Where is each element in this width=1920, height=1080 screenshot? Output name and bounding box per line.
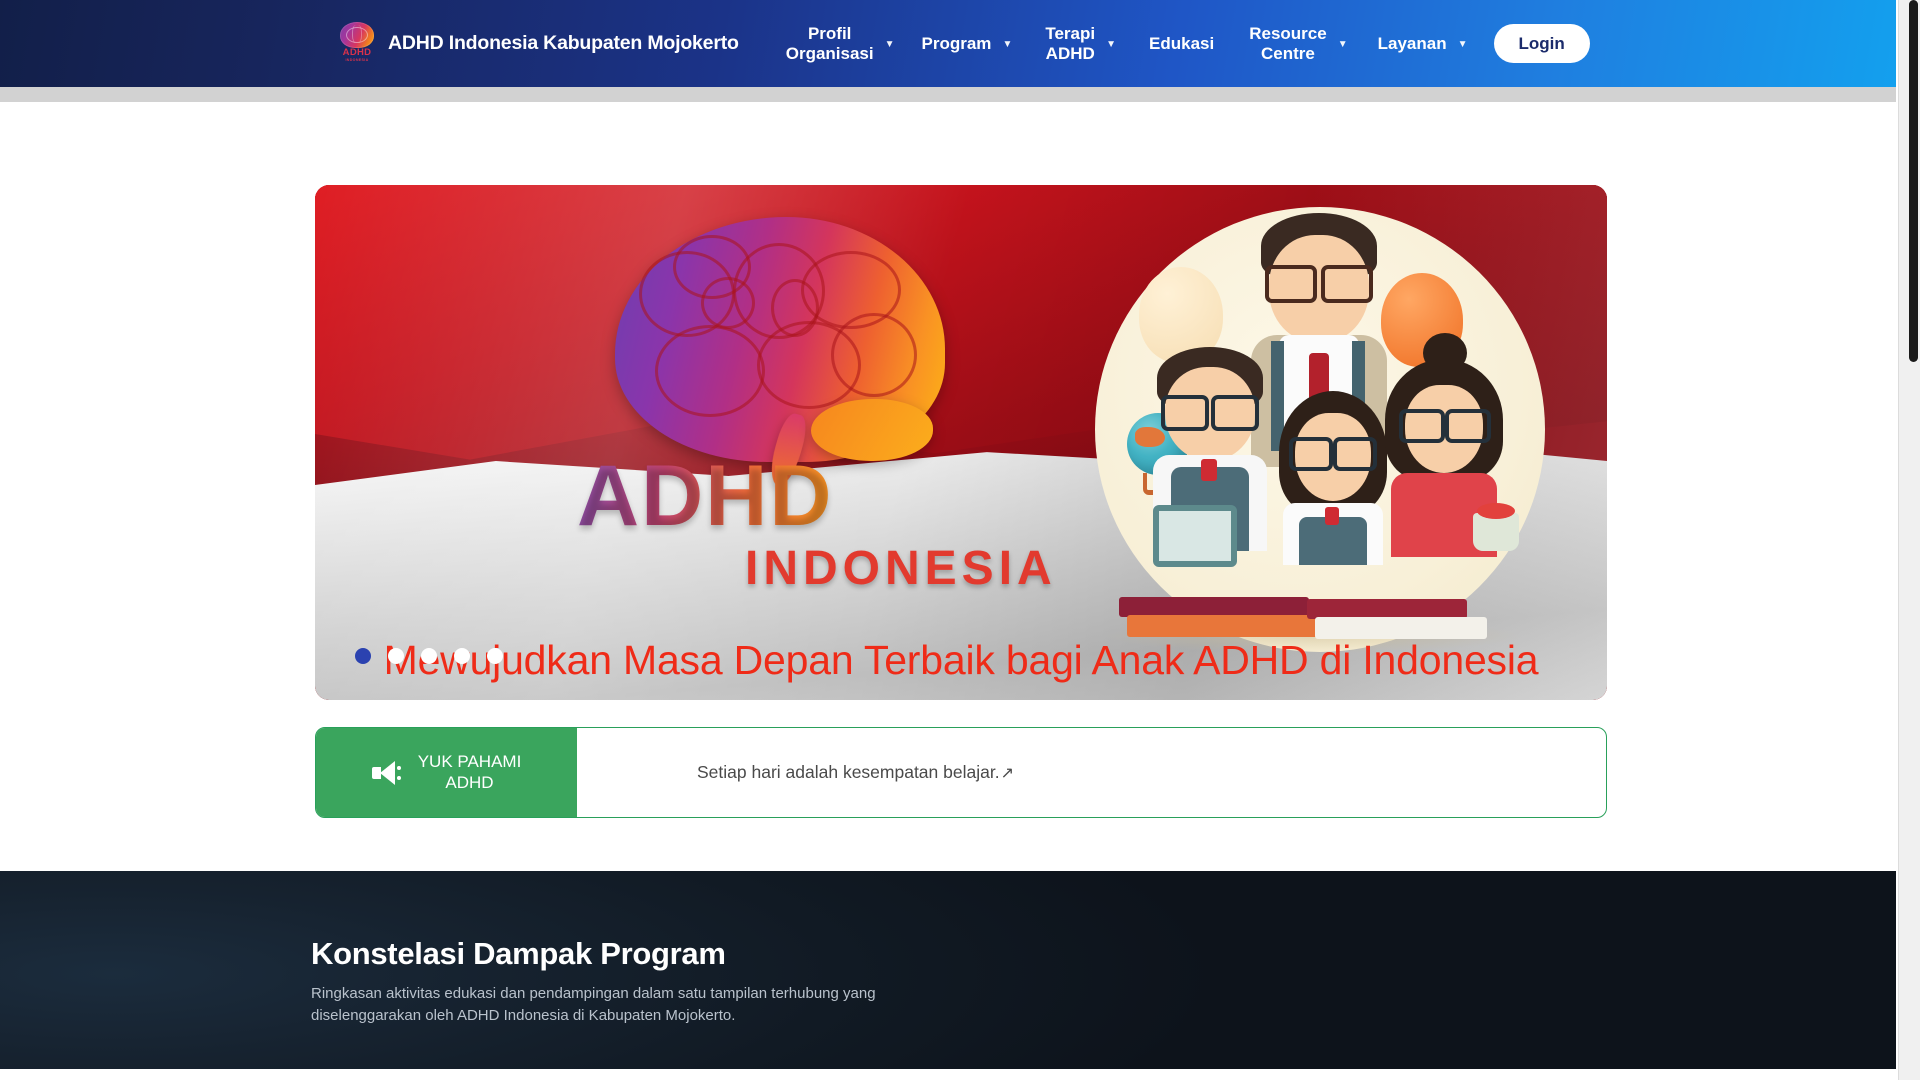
glasses-icon: [1289, 437, 1377, 465]
chevron-down-icon[interactable]: ▼: [1338, 40, 1348, 50]
brand-home-link[interactable]: ADHD INDONESIA ADHD Indonesia Kabupaten …: [338, 21, 739, 67]
family-illustration: [1077, 195, 1547, 665]
nav-label-program: Program: [922, 34, 992, 54]
nav-item-edukasi[interactable]: Edukasi: [1149, 34, 1214, 54]
chevron-down-icon[interactable]: ▼: [885, 40, 895, 50]
boy-figure: [1145, 347, 1275, 547]
glasses-icon: [1399, 409, 1491, 437]
logo-indonesia-text: INDONESIA: [345, 59, 368, 63]
impact-inner: Konstelasi Dampak Program Ringkasan akti…: [0, 871, 1898, 1027]
hero-logo-indonesia-text: INDONESIA: [745, 545, 1057, 593]
header-inner: ADHD INDONESIA ADHD Indonesia Kabupaten …: [0, 21, 1898, 67]
ticker-badge-yuk-pahami-adhd[interactable]: YUK PAHAMI ADHD: [316, 728, 577, 817]
carousel-dot-4[interactable]: [454, 648, 470, 664]
brain-shape-icon: [340, 22, 374, 48]
page-root: ADHD INDONESIA ADHD Indonesia Kabupaten …: [0, 0, 1920, 1080]
tablet-icon: [1153, 505, 1237, 567]
nav-label-layanan: Layanan: [1378, 34, 1447, 54]
impact-title: Konstelasi Dampak Program: [311, 937, 1898, 971]
impact-section: Konstelasi Dampak Program Ringkasan akti…: [0, 871, 1898, 1069]
header-underline-strip: [0, 87, 1898, 102]
brand-title: ADHD Indonesia Kabupaten Mojokerto: [388, 32, 739, 55]
logo-adhd-text: ADHD: [343, 48, 372, 58]
nav-item-terapi-adhd[interactable]: Terapi ADHD ▼: [1045, 24, 1116, 63]
mother-figure: [1377, 345, 1513, 555]
adhd-brain-logo-icon: ADHD INDONESIA: [338, 21, 376, 67]
login-button[interactable]: Login: [1494, 24, 1590, 63]
glasses-icon: [1161, 395, 1259, 425]
books-stack-icon: [1119, 579, 1509, 641]
carousel-dot-1[interactable]: [355, 648, 371, 664]
site-header: ADHD INDONESIA ADHD Indonesia Kabupaten …: [0, 0, 1898, 87]
hero-headline: Mewujudkan Masa Depan Terbaik bagi Anak …: [315, 639, 1607, 682]
chevron-down-icon[interactable]: ▼: [1002, 40, 1012, 50]
nav-label-profil-organisasi: Profil Organisasi: [786, 24, 874, 63]
vertical-scrollbar-track[interactable]: [1898, 0, 1920, 1080]
ticker-body: Setiap hari adalah kesempatan belajar.↗: [577, 728, 1606, 817]
announcement-ticker: YUK PAHAMI ADHD Setiap hari adalah kesem…: [315, 727, 1607, 818]
girl-figure: [1273, 391, 1393, 563]
arrow-up-right-icon: ↗: [1001, 765, 1014, 782]
glasses-icon: [1265, 265, 1373, 297]
carousel-dots: [355, 648, 503, 664]
megaphone-icon: [372, 760, 400, 786]
nav-item-layanan[interactable]: Layanan ▼: [1378, 34, 1468, 54]
nav-label-terapi-adhd: Terapi ADHD: [1045, 24, 1095, 63]
nav-item-program[interactable]: Program ▼: [922, 34, 1013, 54]
nav-item-resource-centre[interactable]: Resource Centre ▼: [1249, 24, 1347, 63]
main-navigation: Profil Organisasi ▼ Program ▼ Terapi ADH…: [786, 24, 1590, 63]
chevron-down-icon[interactable]: ▼: [1106, 40, 1116, 50]
ticker-badge-label: YUK PAHAMI ADHD: [418, 752, 522, 793]
carousel-dot-2[interactable]: [388, 648, 404, 664]
nav-label-resource-centre: Resource Centre: [1249, 24, 1326, 63]
ticker-message-text: Setiap hari adalah kesempatan belajar.: [697, 762, 1000, 782]
vertical-scrollbar-thumb[interactable]: [1909, 0, 1918, 362]
carousel-dot-5[interactable]: [487, 648, 503, 664]
impact-subtitle: Ringkasan aktivitas edukasi dan pendampi…: [311, 983, 951, 1027]
chevron-down-icon[interactable]: ▼: [1458, 40, 1468, 50]
ticker-message-link[interactable]: Setiap hari adalah kesempatan belajar.↗: [697, 762, 1014, 783]
nav-label-edukasi: Edukasi: [1149, 34, 1214, 54]
basket-icon: [1473, 513, 1519, 551]
carousel-dot-3[interactable]: [421, 648, 437, 664]
hero-logo-adhd-text: ADHD: [577, 453, 833, 539]
nav-item-profil-organisasi[interactable]: Profil Organisasi ▼: [786, 24, 895, 63]
hero-carousel[interactable]: ADHD INDONESIA: [315, 185, 1607, 700]
